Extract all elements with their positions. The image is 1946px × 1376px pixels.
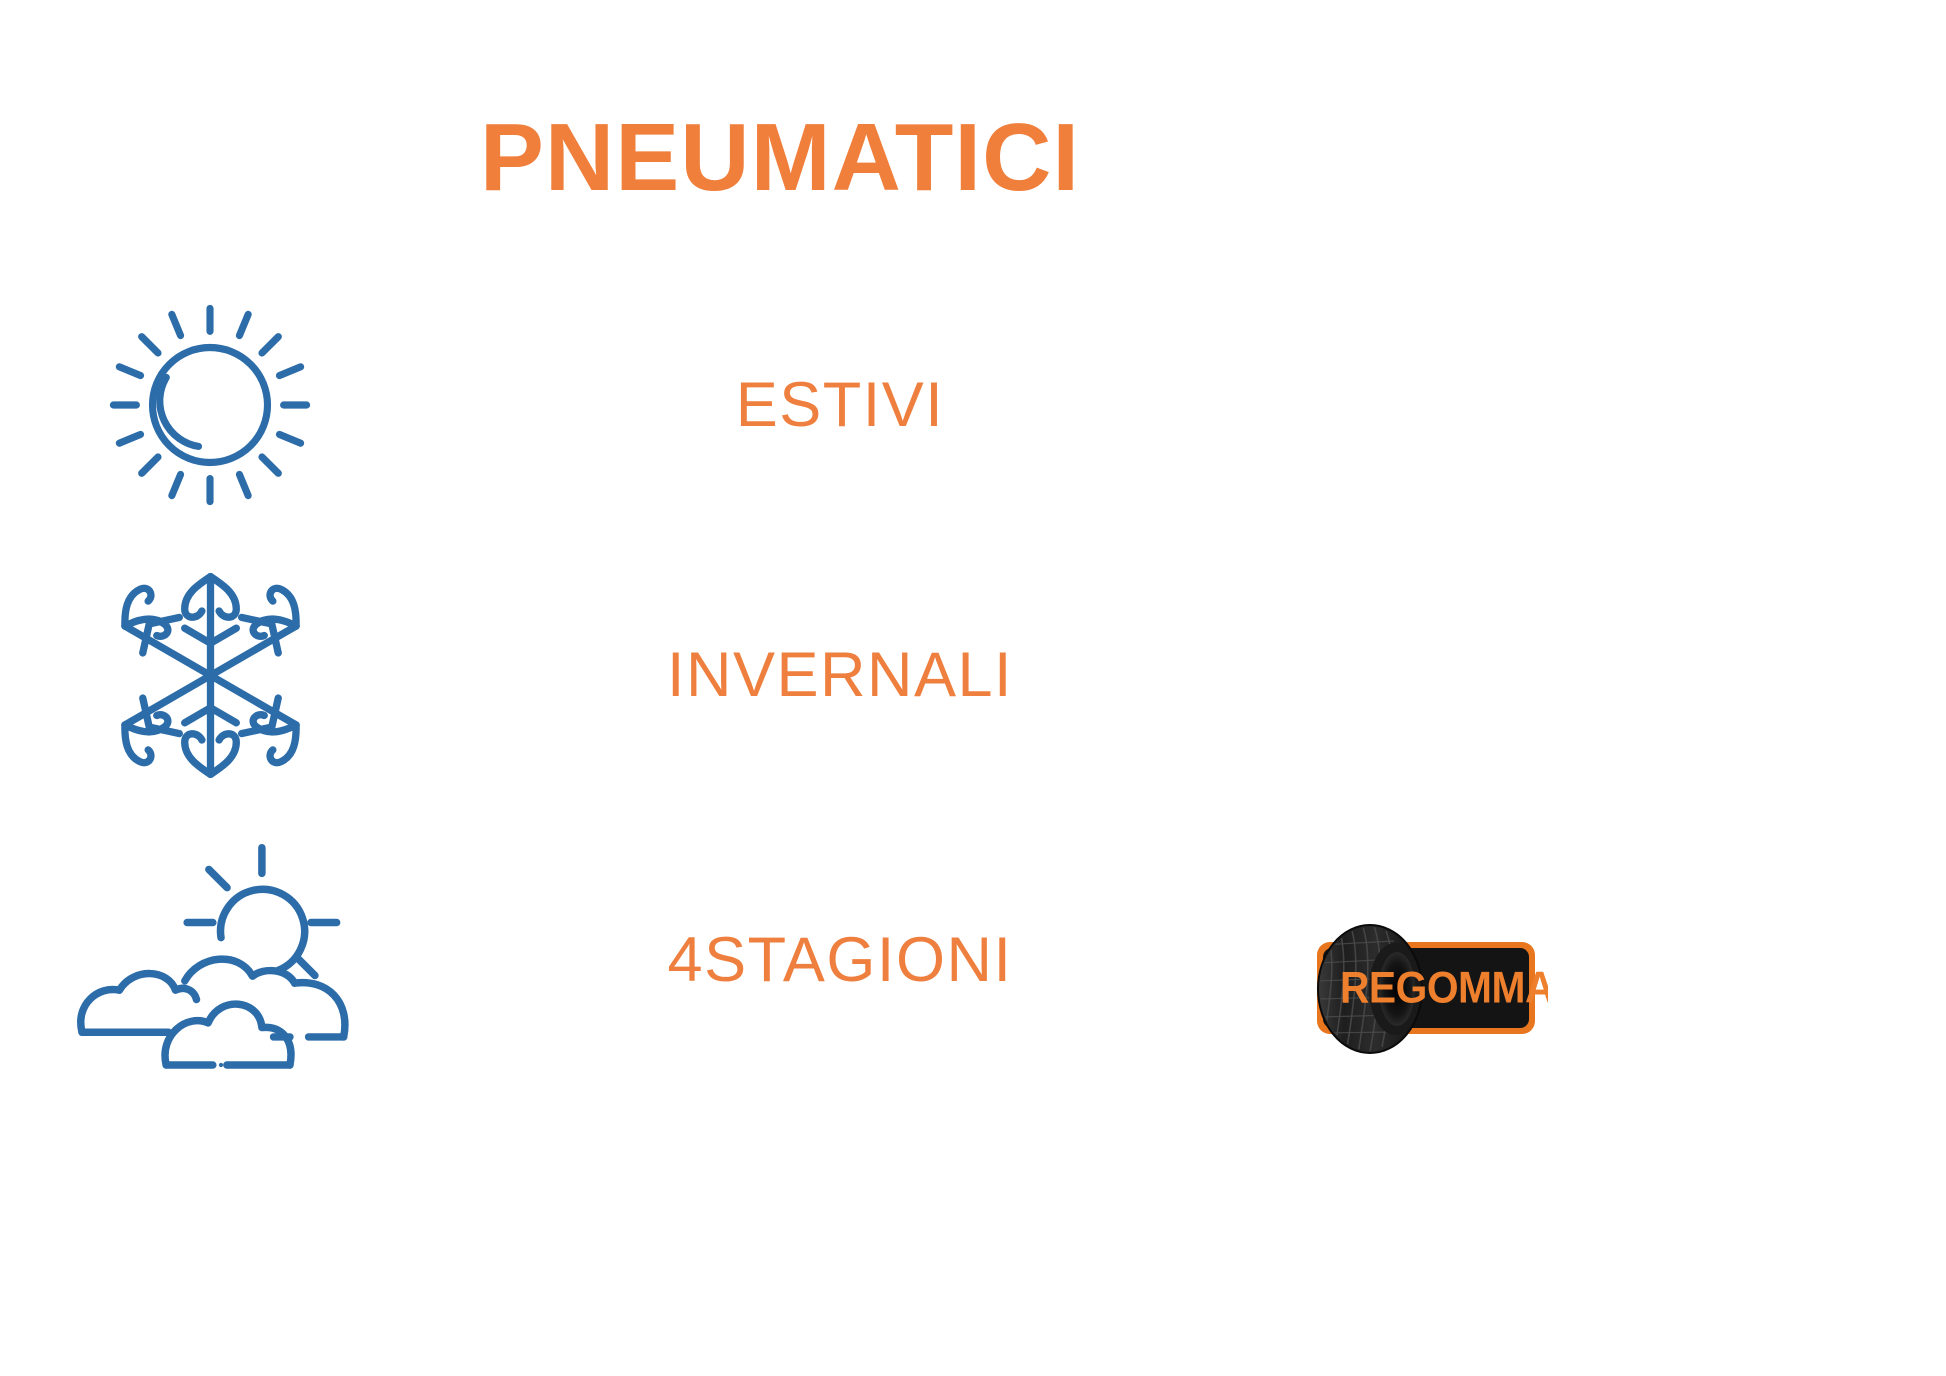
snowflake-icon-graphic [103,563,318,788]
regomma-logo[interactable]: REGOMMA [1296,915,1548,1060]
snowflake-icon [0,545,420,805]
list-item-label: 4STAGIONI [668,924,1013,996]
sun-icon-graphic [95,290,325,520]
label-cell-invernali: INVERNALI [420,639,1560,711]
regomma-logo-graphic: REGOMMA [1296,915,1548,1060]
sun-part [187,848,337,976]
list-item-label: ESTIVI [736,369,945,441]
logo-brand-text: REGOMMA [1340,963,1548,1013]
list-item: INVERNALI [0,545,1560,805]
list-item-label: INVERNALI [667,639,1013,711]
sun-behind-clouds-icon [0,820,420,1100]
page-title: PNEUMATICI [0,108,1560,209]
list-item: ESTIVI [0,275,1560,535]
sun-behind-clouds-icon-graphic [68,840,353,1075]
label-cell-estivi: ESTIVI [420,369,1560,441]
sun-icon [0,275,420,535]
